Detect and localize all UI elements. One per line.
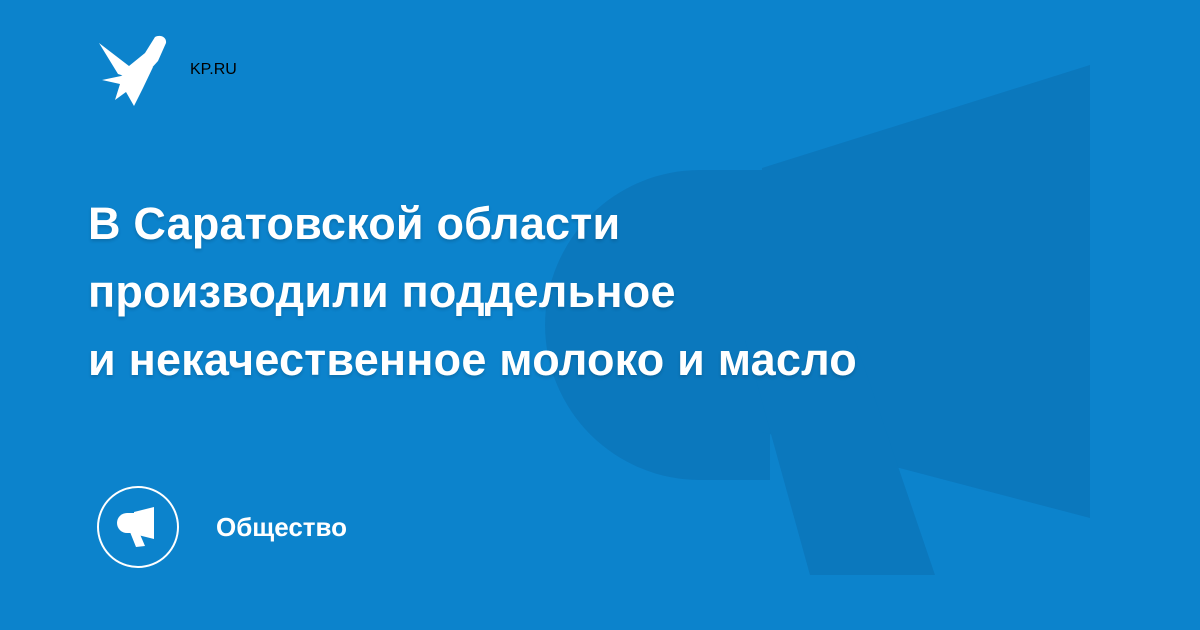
brand-name: KP.RU xyxy=(190,61,237,79)
brand-lockup[interactable]: KP.RU xyxy=(98,34,237,106)
headline-line-1: В Саратовской области xyxy=(88,190,1118,258)
page-title: В Саратовской области производили поддел… xyxy=(88,190,1118,394)
swallow-bird-icon xyxy=(98,34,168,106)
megaphone-icon xyxy=(115,505,161,549)
social-share-card: KP.RU В Саратовской области производили … xyxy=(0,0,1200,630)
category-label: Общество xyxy=(216,514,347,540)
headline-line-2: производили поддельное xyxy=(88,258,1118,326)
category-icon-circle xyxy=(97,486,179,568)
category-badge[interactable]: Общество xyxy=(97,486,347,568)
headline-line-3: и некачественное молоко и масло xyxy=(88,326,1118,394)
